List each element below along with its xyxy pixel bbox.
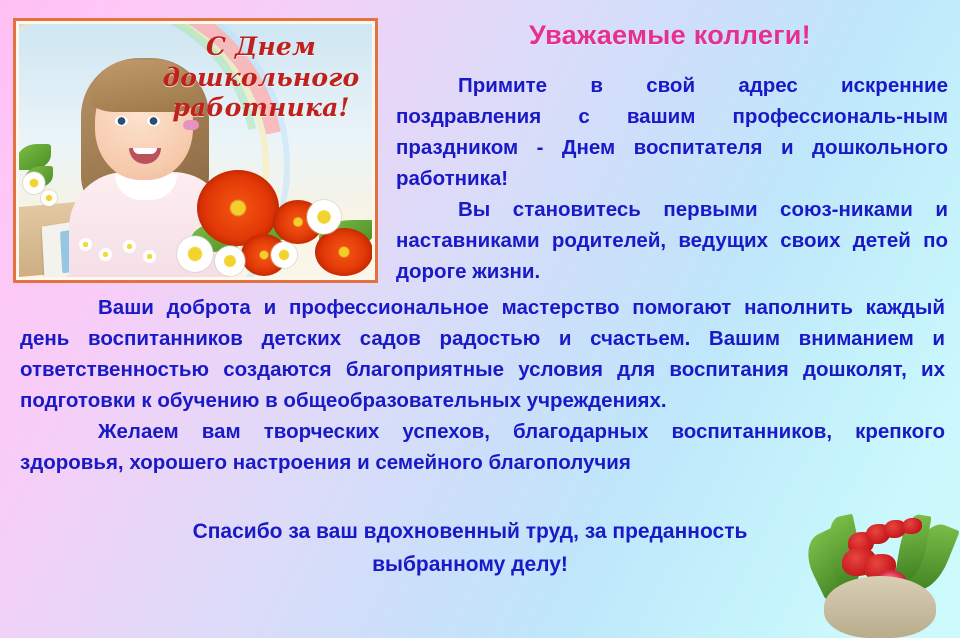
greeting-card-image: С Днем дошкольного работника! bbox=[13, 18, 378, 283]
drawing-daisy-icon bbox=[79, 238, 92, 251]
gladiolus-bud bbox=[902, 518, 922, 534]
intro-paragraph-2-text: Вы становитесь первыми союз-никами и нас… bbox=[396, 198, 948, 283]
daisy-flower bbox=[23, 172, 45, 194]
drawing-daisy-icon bbox=[143, 250, 156, 263]
card-script-line-2: дошкольного bbox=[158, 63, 364, 94]
daisy-flower bbox=[271, 242, 297, 268]
closing-line-1: Спасибо за ваш вдохновенный труд, за пре… bbox=[20, 515, 920, 548]
card-scene: С Днем дошкольного работника! bbox=[19, 24, 372, 277]
main-paragraph-1-text: Ваши доброта и профессиональное мастерст… bbox=[20, 296, 945, 412]
intro-text-column: Примите в свой адрес искренние поздравле… bbox=[396, 70, 948, 287]
main-paragraph-1: Ваши доброта и профессиональное мастерст… bbox=[20, 292, 945, 416]
daisy-flower bbox=[41, 190, 57, 206]
closing-text-block: Спасибо за ваш вдохновенный труд, за пре… bbox=[20, 515, 920, 581]
daisy-flower bbox=[215, 246, 245, 276]
bouquet-wrapper bbox=[824, 576, 936, 638]
intro-paragraph-2: Вы становитесь первыми союз-никами и нас… bbox=[396, 194, 948, 287]
drawing-daisy-icon bbox=[123, 240, 136, 253]
card-script-line-1: С Днем bbox=[158, 32, 364, 63]
drawing-daisy-icon bbox=[99, 248, 112, 261]
main-text-block: Ваши доброта и профессиональное мастерст… bbox=[20, 292, 945, 478]
closing-line-2: выбранному делу! bbox=[20, 548, 920, 581]
card-script-line-3: работника! bbox=[158, 93, 364, 124]
main-paragraph-2-text: Желаем вам творческих успехов, благодарн… bbox=[20, 420, 945, 474]
girl-eye-left bbox=[115, 116, 128, 126]
greeting-slide: С Днем дошкольного работника! Уважаемые … bbox=[0, 0, 960, 638]
main-paragraph-2: Желаем вам творческих успехов, благодарн… bbox=[20, 416, 945, 478]
bouquet-image bbox=[808, 498, 956, 638]
intro-paragraph-1-text: Примите в свой адрес искренние поздравле… bbox=[396, 74, 948, 190]
poppy-flower bbox=[315, 228, 372, 276]
daisy-flower bbox=[177, 236, 213, 272]
page-title: Уважаемые коллеги! bbox=[390, 20, 950, 51]
intro-paragraph-1: Примите в свой адрес искренние поздравле… bbox=[396, 70, 948, 194]
daisy-flower bbox=[307, 200, 341, 234]
card-script-text: С Днем дошкольного работника! bbox=[158, 32, 364, 124]
